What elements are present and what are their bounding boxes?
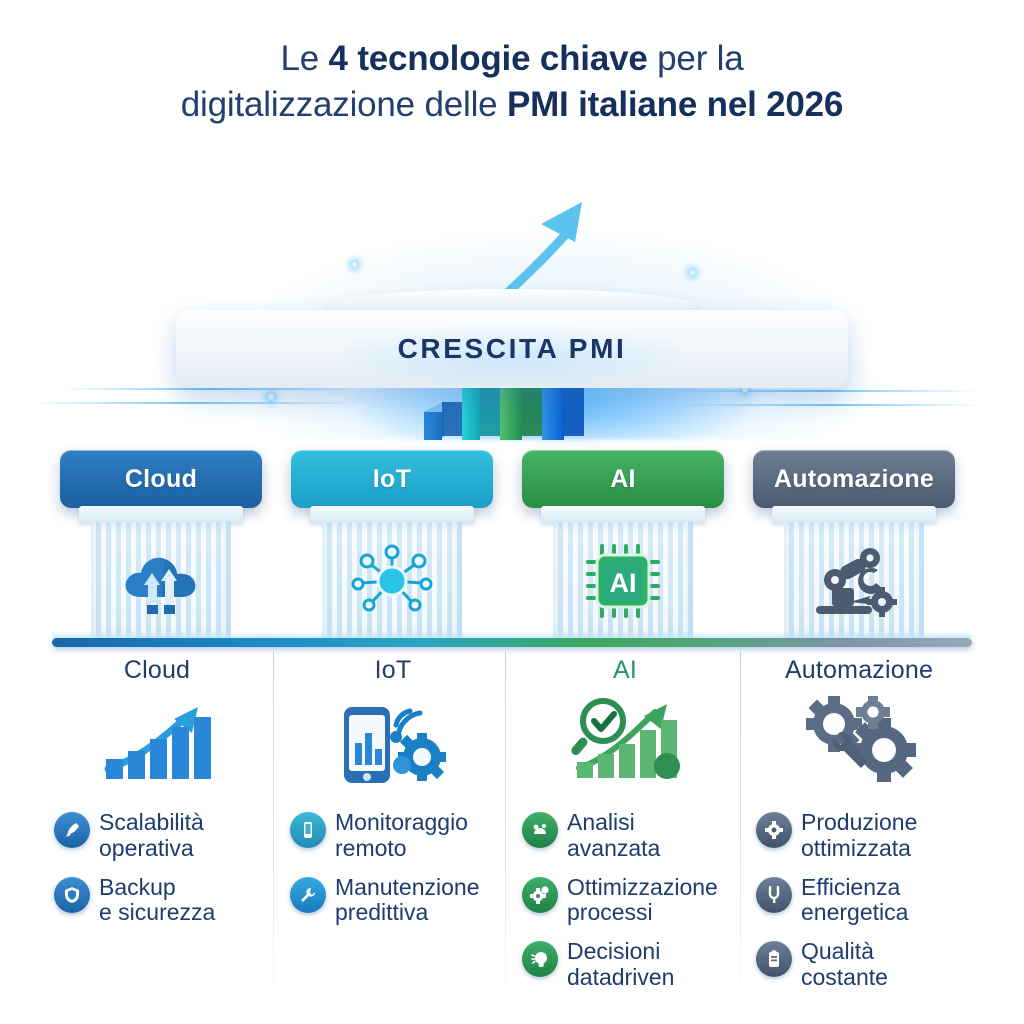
column-heading-iot: IoT	[276, 656, 510, 685]
feature-line-2: ottimizzata	[801, 836, 917, 862]
column-iot: IoT	[276, 647, 510, 1024]
pillar-plate-automazione[interactable]: Automazione	[753, 450, 955, 508]
shield-icon	[54, 877, 90, 913]
feature-text: Manutenzione predittiva	[335, 875, 480, 927]
detail-columns: Cloud Scalabilità op	[0, 647, 1024, 1024]
feature-line-2: operativa	[99, 836, 204, 862]
feature-text: Efficienza energetica	[801, 875, 908, 927]
feature-text: Scalabilità operativa	[99, 810, 204, 862]
feature-item: Produzione ottimizzata	[742, 810, 976, 862]
feature-item: Manutenzione predittiva	[276, 875, 510, 927]
feature-line-2: datadriven	[567, 965, 674, 991]
iot-network-icon	[322, 522, 462, 640]
pillar-label-automazione: Automazione	[774, 465, 934, 494]
title-line-2: digitalizzazione delle PMI italiane nel …	[0, 82, 1024, 128]
title-seg-1c: per la	[648, 39, 744, 78]
feature-item: Efficienza energetica	[742, 875, 976, 927]
feature-line-2: avanzata	[567, 836, 660, 862]
smartphone-wifi-gear-icon	[276, 689, 510, 797]
feature-item: Decisioni datadriven	[508, 939, 742, 991]
gear-cog-icon	[756, 812, 792, 848]
feature-line-1: Manutenzione	[335, 874, 480, 900]
feature-line-2: costante	[801, 965, 888, 991]
magnifier-check-growth-icon	[508, 689, 742, 797]
feature-item: Ottimizzazione processi	[508, 875, 742, 927]
analytics-icon	[522, 812, 558, 848]
feature-text: Decisioni datadriven	[567, 939, 674, 991]
column-heading-ai: AI	[508, 656, 742, 685]
gears-wrench-icon	[742, 689, 976, 797]
title-seg-1b: 4 tecnologie chiave	[329, 39, 648, 78]
feature-text: Monitoraggio remoto	[335, 810, 468, 862]
feature-line-2: remoto	[335, 836, 468, 862]
title-line-1: Le 4 tecnologie chiave per la	[0, 36, 1024, 82]
title-seg-2b: PMI italiane	[507, 85, 707, 124]
pillar-capital	[310, 506, 474, 523]
pillar-iot[interactable]: IoT	[291, 450, 493, 642]
feature-line-1: Qualità	[801, 938, 874, 964]
pillar-capital	[79, 506, 243, 523]
feature-item: Monitoraggio remoto	[276, 810, 510, 862]
pillar-plate-cloud[interactable]: Cloud	[60, 450, 262, 508]
feature-line-2: predittiva	[335, 900, 480, 926]
clipboard-check-icon	[756, 941, 792, 977]
bar-chart-growth-icon	[40, 689, 274, 797]
title-seg-1a: Le	[280, 39, 328, 78]
feature-line-1: Produzione	[801, 809, 917, 835]
feature-text: Analisi avanzata	[567, 810, 660, 862]
pillar-label-cloud: Cloud	[125, 465, 197, 494]
feature-item: Scalabilità operativa	[40, 810, 274, 862]
robot-arm-icon	[784, 522, 924, 640]
mobile-device-icon	[290, 812, 326, 848]
platform-label: CRESCITA PMI	[176, 310, 848, 388]
pillar-automazione[interactable]: Automazione	[753, 450, 955, 642]
infographic-canvas: Le 4 tecnologie chiave per la digitalizz…	[0, 0, 1024, 1024]
svg-text:AI: AI	[610, 568, 637, 598]
title-seg-2c: nel 2026	[707, 85, 844, 124]
page-title: Le 4 tecnologie chiave per la digitalizz…	[0, 36, 1024, 127]
cloud-upload-icon	[91, 522, 231, 640]
feature-line-2: e sicurezza	[99, 900, 215, 926]
pillar-capital	[541, 506, 705, 523]
feature-line-2: energetica	[801, 900, 908, 926]
feature-line-1: Analisi	[567, 809, 635, 835]
foundation-bar	[52, 638, 972, 647]
feature-item: Backup e sicurezza	[40, 875, 274, 927]
feature-text: Backup e sicurezza	[99, 875, 215, 927]
pillar-capital	[772, 506, 936, 523]
column-ai: AI	[508, 647, 742, 1024]
ai-chip-icon: AI	[553, 522, 693, 640]
feature-line-1: Backup	[99, 874, 176, 900]
feature-item: Analisi avanzata	[508, 810, 742, 862]
crescita-pmi-platform: CRESCITA PMI	[176, 310, 848, 388]
wrench-spark-icon	[290, 877, 326, 913]
feature-line-1: Decisioni	[567, 938, 660, 964]
feature-line-2: processi	[567, 900, 718, 926]
insight-bulb-icon	[522, 941, 558, 977]
plug-icon	[756, 877, 792, 913]
pillars-row: Cloud IoT	[0, 450, 1024, 642]
hero-platform: CRESCITA PMI	[0, 150, 1024, 440]
feature-text: Qualità costante	[801, 939, 888, 991]
column-automazione: Automazione	[742, 647, 976, 1024]
rocket-icon	[54, 812, 90, 848]
title-seg-2a: digitalizzazione delle	[181, 85, 507, 124]
feature-item: Qualità costante	[742, 939, 976, 991]
feature-line-1: Scalabilità	[99, 809, 204, 835]
pillar-plate-iot[interactable]: IoT	[291, 450, 493, 508]
feature-text: Ottimizzazione processi	[567, 875, 718, 927]
column-heading-cloud: Cloud	[40, 656, 274, 685]
gears-icon	[522, 877, 558, 913]
pillar-ai[interactable]: AI AI	[522, 450, 724, 642]
feature-line-1: Monitoraggio	[335, 809, 468, 835]
pillar-cloud[interactable]: Cloud	[60, 450, 262, 642]
pillar-plate-ai[interactable]: AI	[522, 450, 724, 508]
pillar-label-ai: AI	[610, 465, 636, 494]
column-heading-automazione: Automazione	[742, 656, 976, 685]
feature-line-1: Efficienza	[801, 874, 900, 900]
feature-text: Produzione ottimizzata	[801, 810, 917, 862]
column-cloud: Cloud Scalabilità op	[40, 647, 274, 1024]
feature-line-1: Ottimizzazione	[567, 874, 718, 900]
pillar-label-iot: IoT	[373, 465, 411, 494]
